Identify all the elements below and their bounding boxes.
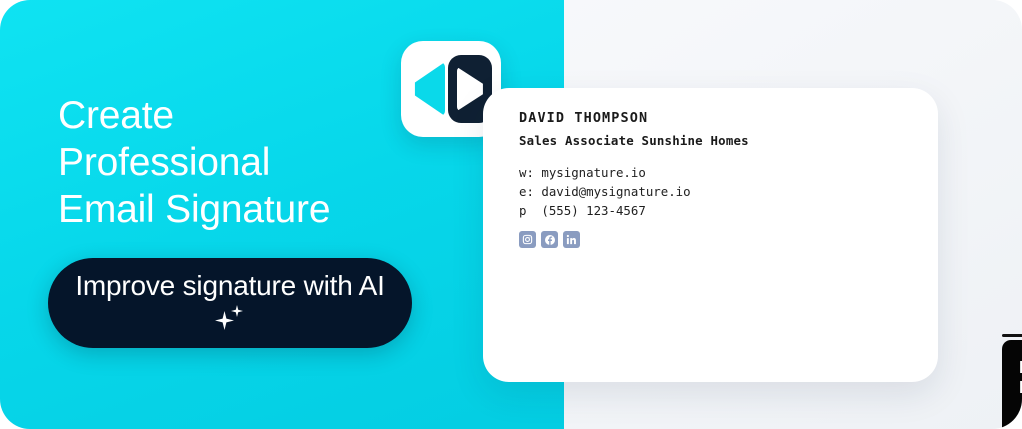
headline-line-3: Email Signature bbox=[58, 186, 528, 233]
signature-preview-card: DAVID THOMPSON Sales Associate Sunshine … bbox=[483, 88, 938, 382]
cta-label-wrap: Improve signature with AI bbox=[48, 269, 412, 337]
signature-contact-rows: w: mysignature.io e: david@mysignature.i… bbox=[519, 163, 777, 220]
instagram-icon[interactable] bbox=[519, 231, 536, 248]
headline-line-2: Professional bbox=[58, 139, 528, 186]
contact-email[interactable]: e: david@mysignature.io bbox=[519, 182, 777, 201]
promo-banner-root: Create Professional Email Signature Impr… bbox=[0, 0, 1022, 429]
contact-website[interactable]: w: mysignature.io bbox=[519, 163, 777, 182]
cta-label: Improve signature with AI bbox=[75, 270, 384, 301]
email-banner[interactable]: EXPLORE REAL ESTATE TODAY David Thompson… bbox=[1002, 340, 1022, 429]
signature-divider bbox=[1002, 334, 1022, 337]
triangle-right-icon bbox=[457, 67, 484, 111]
signature-details: DAVID THOMPSON Sales Associate Sunshine … bbox=[519, 110, 777, 248]
linkedin-icon[interactable] bbox=[563, 231, 580, 248]
sparkles-icon bbox=[215, 305, 249, 333]
contact-phone[interactable]: p (555) 123-4567 bbox=[519, 201, 777, 220]
triangle-left-icon bbox=[413, 62, 445, 116]
signature-role: Sales Associate Sunshine Homes bbox=[519, 133, 777, 148]
improve-signature-with-ai-button[interactable]: Improve signature with AI bbox=[48, 258, 412, 348]
facebook-icon[interactable] bbox=[541, 231, 558, 248]
social-links bbox=[519, 231, 777, 248]
signature-name: DAVID THOMPSON bbox=[519, 110, 777, 126]
